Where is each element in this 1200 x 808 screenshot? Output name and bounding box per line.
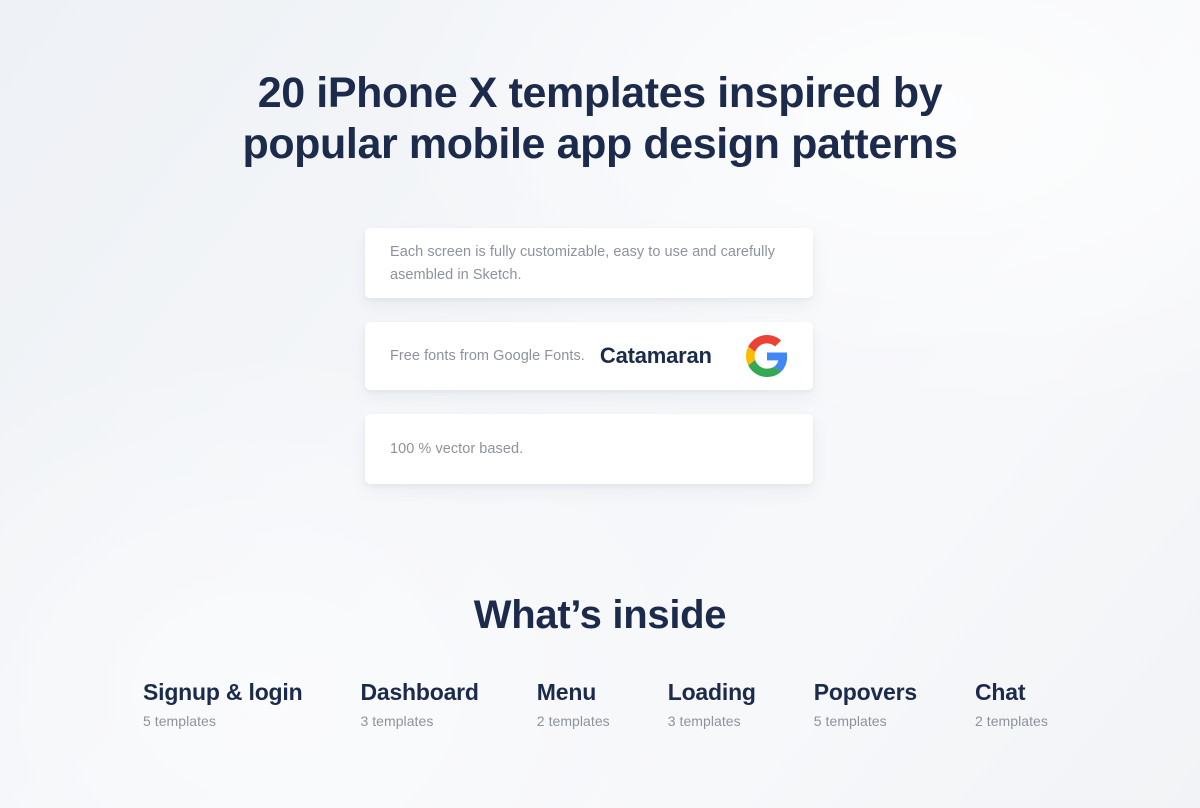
feature-card-fonts: Free fonts from Google Fonts. Catamaran <box>365 322 813 390</box>
category-count: 5 templates <box>814 713 917 729</box>
category-name: Chat <box>975 678 1048 706</box>
category-name: Loading <box>668 678 756 706</box>
category-name: Menu <box>537 678 610 706</box>
category-list: Signup & login 5 templates Dashboard 3 t… <box>143 678 1048 729</box>
category-count: 2 templates <box>975 713 1048 729</box>
feature-card-vector-text: 100 % vector based. <box>390 438 523 461</box>
feature-card-font-name: Catamaran <box>600 343 712 369</box>
feature-card-customizable-text: Each screen is fully customizable, easy … <box>390 241 788 287</box>
landing-page: 20 iPhone X templates inspired by popula… <box>0 0 1200 808</box>
category-name: Dashboard <box>360 678 478 706</box>
feature-card-vector: 100 % vector based. <box>365 414 813 484</box>
category-count: 3 templates <box>360 713 478 729</box>
page-title-line-1: 20 iPhone X templates inspired by <box>0 68 1200 119</box>
feature-card-fonts-label: Free fonts from Google Fonts. <box>390 348 585 364</box>
google-logo-icon <box>746 335 788 377</box>
feature-card-fonts-row: Free fonts from Google Fonts. Catamaran <box>390 335 788 377</box>
hero-section: 20 iPhone X templates inspired by popula… <box>0 68 1200 170</box>
category-item-dashboard[interactable]: Dashboard 3 templates <box>360 678 478 729</box>
page-title: 20 iPhone X templates inspired by popula… <box>0 68 1200 170</box>
category-name: Popovers <box>814 678 917 706</box>
category-item-signup-login[interactable]: Signup & login 5 templates <box>143 678 302 729</box>
category-item-chat[interactable]: Chat 2 templates <box>975 678 1048 729</box>
feature-card-list: Each screen is fully customizable, easy … <box>365 228 813 508</box>
category-item-menu[interactable]: Menu 2 templates <box>537 678 610 729</box>
category-item-loading[interactable]: Loading 3 templates <box>668 678 756 729</box>
whats-inside-heading: What’s inside <box>0 593 1200 638</box>
category-count: 5 templates <box>143 713 302 729</box>
category-name: Signup & login <box>143 678 302 706</box>
category-count: 3 templates <box>668 713 756 729</box>
page-title-line-2: popular mobile app design patterns <box>0 119 1200 170</box>
category-item-popovers[interactable]: Popovers 5 templates <box>814 678 917 729</box>
feature-card-customizable: Each screen is fully customizable, easy … <box>365 228 813 298</box>
category-count: 2 templates <box>537 713 610 729</box>
